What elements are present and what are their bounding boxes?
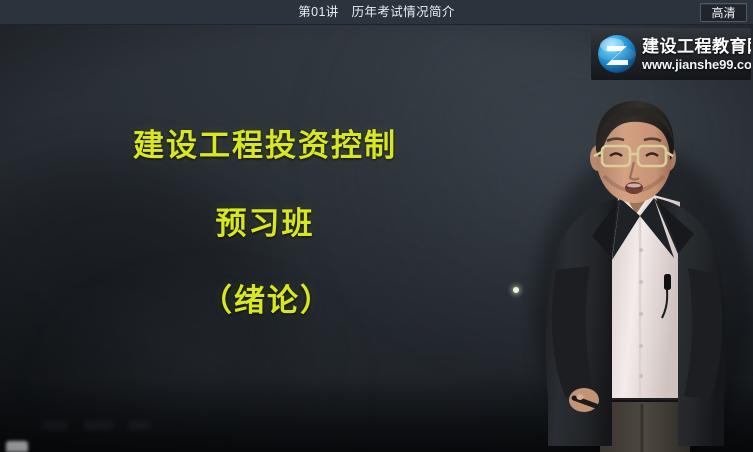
pointer-light-dot xyxy=(513,287,519,293)
presenter-figure xyxy=(522,98,753,452)
floor-reflection xyxy=(42,421,68,430)
slide-title-line: 建设工程投资控制 xyxy=(10,130,520,161)
slide-text-block: 建设工程投资控制 预习班 （绪论） xyxy=(0,130,520,316)
quality-badge-hd[interactable]: 高清 xyxy=(700,3,747,22)
floor-reflection xyxy=(128,421,150,430)
video-player: 第01讲 历年考试情况简介 高清 建设工程投资控制 预习班 （绪论） xyxy=(0,0,753,452)
site-watermark: 建设工程教育网 www.jianshe99.com xyxy=(591,28,751,80)
floor-reflection xyxy=(84,421,114,430)
video-stage[interactable]: 建设工程投资控制 预习班 （绪论） xyxy=(0,25,753,452)
blue-sphere-z-logo-icon xyxy=(595,32,639,76)
watermark-site-url: www.jianshe99.com xyxy=(642,57,751,72)
watermark-text-block: 建设工程教育网 www.jianshe99.com xyxy=(642,37,751,72)
watermark-site-name: 建设工程教育网 xyxy=(642,37,751,56)
slide-section-line: （绪论） xyxy=(14,285,520,316)
floor-light-patch xyxy=(6,441,28,452)
player-title-bar: 第01讲 历年考试情况简介 高清 xyxy=(0,0,753,25)
lesson-title: 第01讲 历年考试情况简介 xyxy=(0,0,753,24)
presenter-lapel-mic xyxy=(664,274,671,290)
presenter-trousers xyxy=(600,398,690,452)
slide-subtitle-line: 预习班 xyxy=(10,208,520,239)
